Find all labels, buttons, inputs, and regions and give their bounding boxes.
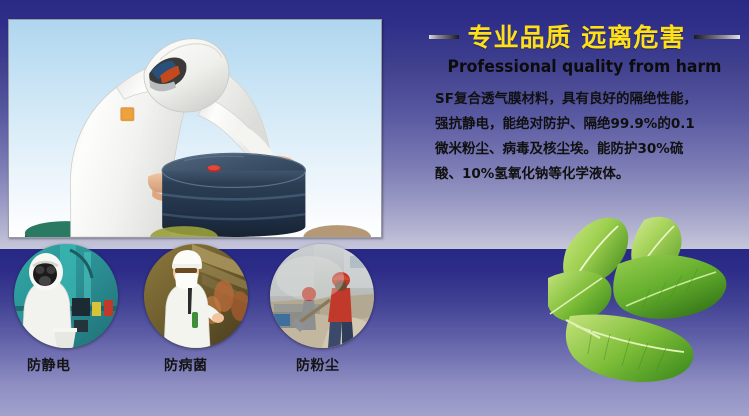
- gradient-dash-right-icon: [694, 35, 740, 39]
- thumbnail-label-antidust: 防粉尘: [296, 355, 340, 375]
- promo-banner: 防静电 防病菌 防粉尘 专业品质 远离危害 Professional quali…: [0, 0, 749, 416]
- headline-row: 专业品质 远离危害: [420, 20, 749, 54]
- headline-english: Professional quality from harm: [433, 57, 736, 77]
- thumbnail-antidust-illustration: [270, 244, 374, 348]
- body-copy: SF复合透气膜材料，具有良好的隔绝性能， 强抗静电，能绝对防护、隔绝99.9%的…: [435, 87, 740, 187]
- thumbnail-antibacterial: [144, 244, 248, 348]
- headline-chinese: 专业品质 远离危害: [468, 25, 686, 50]
- gradient-dash-left-icon: [429, 35, 459, 39]
- thumbnail-antistatic-illustration: [14, 244, 118, 348]
- thumbnail-antidust: [270, 244, 374, 348]
- body-copy-line-4: 酸、10%氢氧化钠等化学液体。: [435, 162, 740, 187]
- thumbnail-label-antistatic: 防静电: [27, 355, 71, 375]
- body-copy-line-2: 强抗静电，能绝对防护、隔绝99.9%的0.1: [435, 112, 740, 137]
- thumbnail-antibacterial-illustration: [144, 244, 248, 348]
- thumbnail-label-antibacterial: 防病菌: [164, 355, 208, 375]
- body-copy-line-3: 微米粉尘、病毒及核尘埃。能防护30%硫: [435, 137, 740, 162]
- thumbnail-antistatic: [14, 244, 118, 348]
- hero-photo-illustration: [9, 20, 381, 237]
- hero-product-photo: [8, 19, 382, 238]
- body-copy-line-1: SF复合透气膜材料，具有良好的隔绝性能，: [435, 87, 740, 112]
